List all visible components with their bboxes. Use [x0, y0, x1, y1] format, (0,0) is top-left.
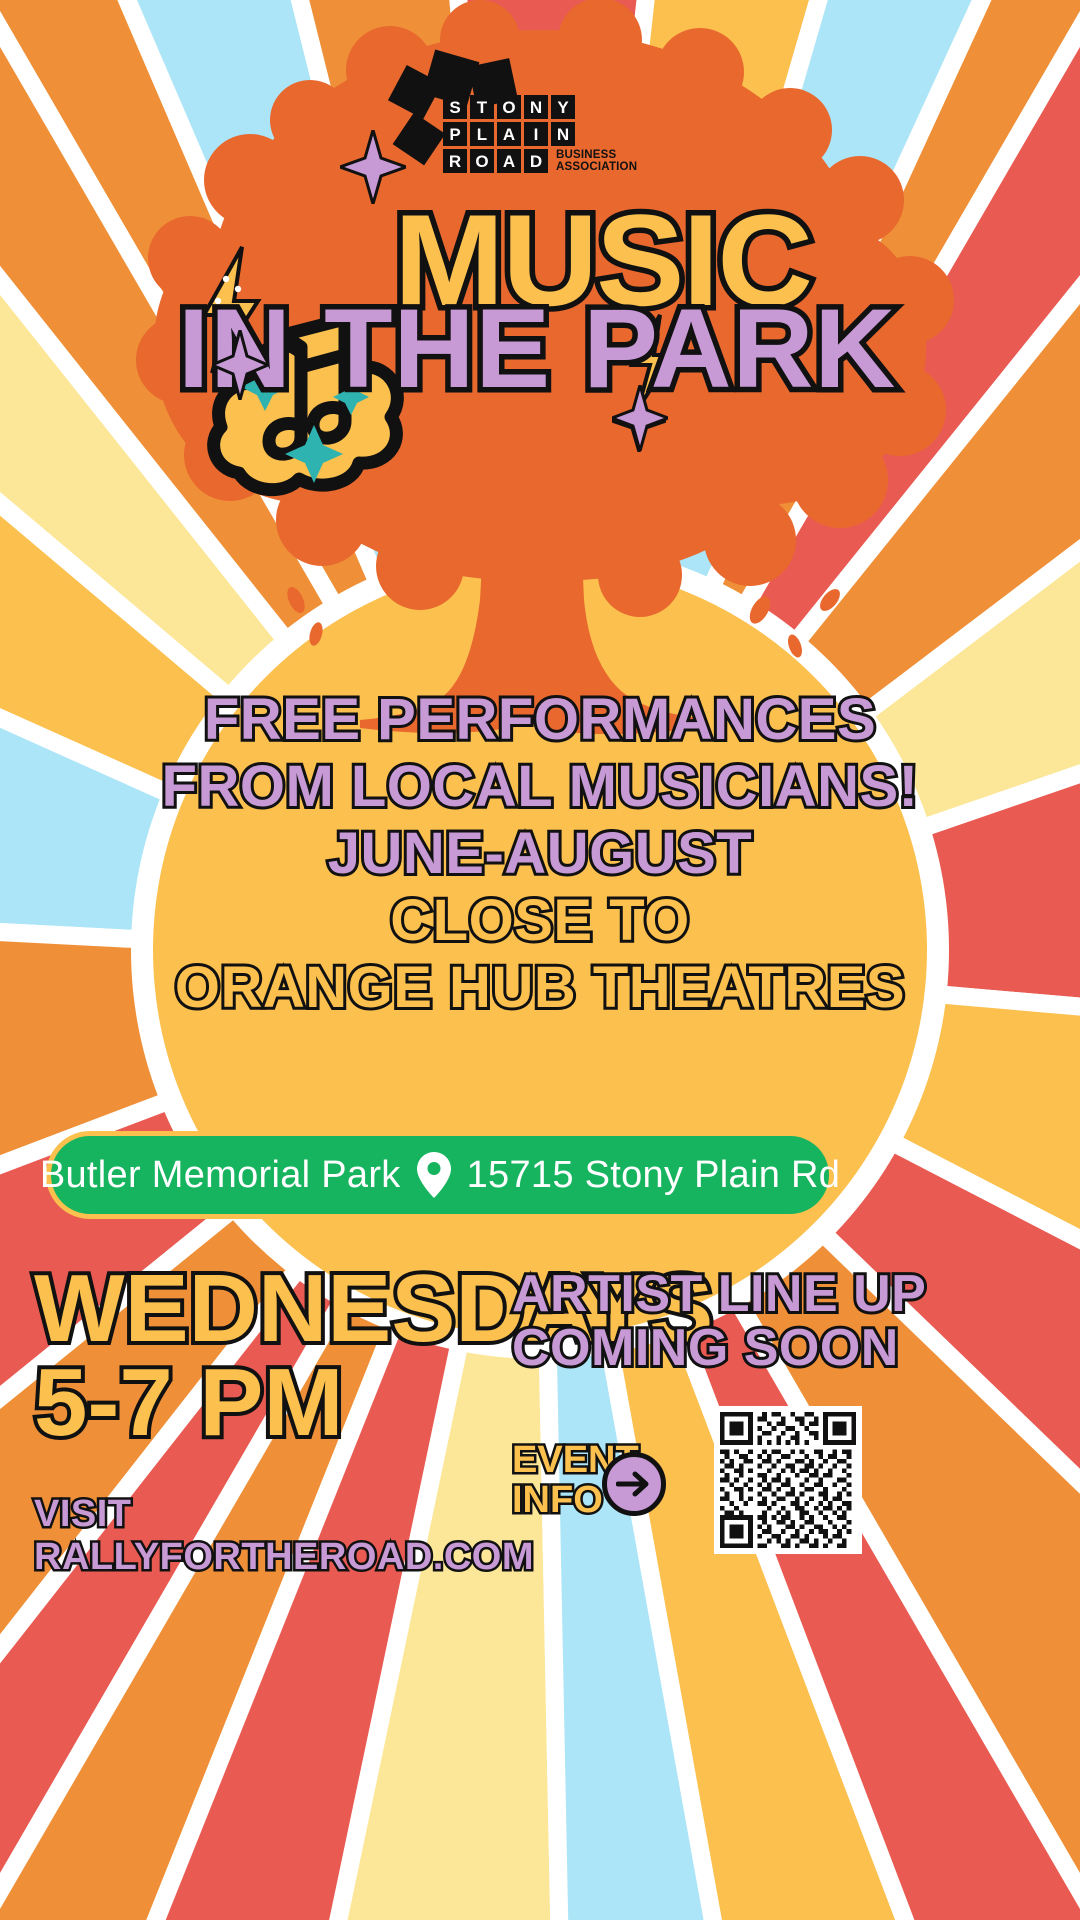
copy-line-june-august: JUNE-AUGUST	[90, 824, 990, 885]
logo-subtitle-line1: BUSINESS	[556, 149, 637, 161]
location-venue-name: Butler Memorial Park	[40, 1154, 401, 1197]
copy-line-free-performances: FREE PERFORMANCES	[90, 690, 990, 751]
logo-letter: O	[470, 149, 494, 173]
schedule-time: 5-7 PM	[34, 1356, 504, 1450]
website-url[interactable]: VISIT RALLYFORTHEROAD.COM	[34, 1493, 534, 1579]
arrow-right-icon[interactable]	[602, 1452, 666, 1516]
sparkle-diamond-bottom-icon	[612, 385, 668, 451]
qr-code-icon[interactable]	[714, 1406, 862, 1554]
poster-canvas: S T O N Y P L A I N R O A D BUSINESS AS	[0, 0, 1080, 1920]
artist-lineup-block: ARTIST LINE UP COMING SOON	[512, 1267, 942, 1375]
logo-letter: S	[443, 95, 467, 119]
logo-letter: A	[497, 149, 521, 173]
map-pin-icon	[417, 1152, 451, 1198]
logo-letter: A	[497, 122, 521, 146]
headline-block: MUSIC IN THE PARK	[0, 185, 1080, 450]
headline-in-the-park: IN THE PARK	[178, 293, 896, 405]
artist-lineup-line1: ARTIST LINE UP	[512, 1267, 942, 1321]
sparkle-star-under-in-icon	[212, 330, 268, 400]
location-bar[interactable]: Butler Memorial Park 15715 Stony Plain R…	[46, 1131, 834, 1219]
logo-letter: I	[524, 122, 548, 146]
copy-line-from-local-musicians: FROM LOCAL MUSICIANS!	[90, 757, 990, 818]
stony-plain-road-logo: S T O N Y P L A I N R O A D BUSINESS AS	[443, 95, 653, 177]
logo-letter: L	[470, 122, 494, 146]
logo-subtitle: BUSINESS ASSOCIATION	[556, 149, 637, 174]
copy-line-orange-hub-theatres: ORANGE HUB THEATRES	[90, 958, 990, 1019]
logo-letter: O	[497, 95, 521, 119]
logo-letter: P	[443, 122, 467, 146]
logo-letter: Y	[551, 95, 575, 119]
logo-letter: T	[470, 95, 494, 119]
center-copy-block: FREE PERFORMANCES FROM LOCAL MUSICIANS! …	[90, 690, 990, 1024]
logo-row-plain: P L A I N	[443, 122, 653, 146]
logo-row-road: R O A D BUSINESS ASSOCIATION	[443, 149, 653, 174]
logo-letter: N	[551, 122, 575, 146]
logo-letter: R	[443, 149, 467, 173]
artist-lineup-line2: COMING SOON	[512, 1321, 942, 1375]
copy-line-close-to: CLOSE TO	[90, 891, 990, 952]
logo-letter: N	[524, 95, 548, 119]
logo-row-stony: S T O N Y	[443, 95, 653, 119]
logo-subtitle-line2: ASSOCIATION	[556, 161, 637, 173]
logo-letter: D	[524, 149, 548, 173]
location-address: 15715 Stony Plain Rd	[467, 1154, 841, 1197]
schedule-days: WEDNESDAYS	[34, 1262, 504, 1356]
schedule-block: WEDNESDAYS 5-7 PM	[34, 1262, 504, 1450]
